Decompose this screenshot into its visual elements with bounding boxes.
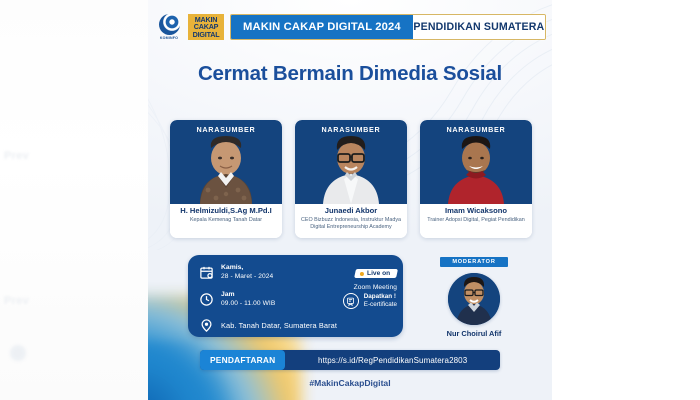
certificate-icon <box>343 293 359 309</box>
moderator-portrait-icon <box>448 273 500 325</box>
live-dot-icon <box>360 272 364 276</box>
speaker-name: Imam Wicaksono <box>423 207 529 216</box>
event-date-text: Kamis, 28 - Maret - 2024 <box>221 264 273 280</box>
background-left-gutter: Prev Prev Prev <box>0 0 148 400</box>
speaker-portrait-icon <box>295 134 407 204</box>
event-time-row: Jam 09.00 - 11.00 WIB <box>198 291 275 308</box>
speaker-title: Kepala Kemenag Tanah Datar <box>173 217 279 224</box>
poster-canvas: KOMINFO MAKIN CAKAP DIGITAL MAKIN CAKAP … <box>148 0 552 400</box>
speaker-meta: Junaedi Akbor CEO Bizbuzz Indonesia, Ins… <box>295 204 407 238</box>
speaker-photo: NARASUMBER <box>420 120 532 204</box>
calendar-icon <box>198 264 215 281</box>
poster-page: Prev Prev Prev <box>0 0 700 400</box>
event-time-text: Jam 09.00 - 11.00 WIB <box>221 291 275 307</box>
registration-url[interactable]: https://s.id/RegPendidikanSumatera2803 <box>285 356 500 365</box>
region-title: PENDIDIKAN SUMATERA <box>413 15 545 39</box>
certificate-label: Dapatkan ! <box>364 293 397 301</box>
poster-header: KOMINFO MAKIN CAKAP DIGITAL MAKIN CAKAP … <box>148 10 552 44</box>
speaker-photo: NARASUMBER <box>295 120 407 204</box>
certificate-value: E-certificate <box>364 301 397 309</box>
campaign-title: MAKIN CAKAP DIGITAL 2024 <box>231 15 413 39</box>
speaker-title: CEO Bizbuzz Indonesia, Instruktur Madya … <box>298 217 404 231</box>
speaker-meta: Imam Wicaksono Trainer Adopsi Digital, P… <box>420 204 532 238</box>
event-info-panel: Kamis, 28 - Maret - 2024 Jam 09.00 - 11.… <box>188 255 403 337</box>
makin-cakap-digital-logo: MAKIN CAKAP DIGITAL <box>188 14 224 40</box>
speaker-card: NARASUMBER Junaedi Akbor <box>295 120 407 238</box>
moderator-name: Nur Choirul Afif <box>416 329 532 338</box>
event-date: 28 - Maret - 2024 <box>221 273 273 281</box>
moderator-block: MODERATOR Nur Choirul Afif <box>416 250 532 338</box>
speakers-row: NARASUMBER <box>170 120 532 240</box>
kominfo-emblem-icon <box>159 14 180 35</box>
speaker-name: Junaedi Akbor <box>298 207 404 216</box>
speaker-portrait-icon <box>420 134 532 204</box>
kominfo-logo: KOMINFO <box>152 12 186 42</box>
event-day: Kamis, <box>221 264 273 272</box>
speaker-card: NARASUMBER Imam Wicaksono Trainer Ad <box>420 120 532 238</box>
event-time-label: Jam <box>221 291 275 299</box>
location-pin-icon <box>198 317 215 334</box>
speaker-title: Trainer Adopsi Digital, Pegiat Pendidika… <box>423 217 529 224</box>
speaker-role-label: NARASUMBER <box>295 125 407 134</box>
speaker-portrait-icon <box>170 134 282 204</box>
campaign-hashtag: #MakinCakapDigital <box>148 378 552 388</box>
logo-line-3: DIGITAL <box>193 31 220 38</box>
speaker-card: NARASUMBER <box>170 120 282 238</box>
live-pill: Live on <box>354 269 398 278</box>
moderator-photo <box>448 273 500 325</box>
registration-label: PENDAFTARAN <box>200 350 285 370</box>
header-title-bar: MAKIN CAKAP DIGITAL 2024 PENDIDIKAN SUMA… <box>230 14 546 40</box>
certificate-text: Dapatkan ! E-certificate <box>364 293 397 309</box>
speaker-role-label: NARASUMBER <box>170 125 282 134</box>
clock-icon <box>198 291 215 308</box>
live-on-badge: Live on Zoom Meeting <box>309 263 397 291</box>
moderator-badge: MODERATOR <box>440 257 507 267</box>
registration-bar[interactable]: PENDAFTARAN https://s.id/RegPendidikanSu… <box>200 350 500 370</box>
event-date-row: Kamis, 28 - Maret - 2024 <box>198 264 273 281</box>
platform-name: Zoom Meeting <box>309 284 397 291</box>
event-location-text: Kab. Tanah Datar, Sumatera Barat <box>221 321 337 330</box>
background-right-gutter <box>552 0 700 400</box>
event-location-row: Kab. Tanah Datar, Sumatera Barat <box>198 317 337 334</box>
speaker-photo: NARASUMBER <box>170 120 282 204</box>
speaker-meta: H. Helmizuldi,S.Ag M.Pd.I Kepala Kemenag… <box>170 204 282 238</box>
event-headline: Cermat Bermain Dimedia Sosial <box>148 62 552 86</box>
live-label: Live on <box>367 271 390 278</box>
speaker-name: H. Helmizuldi,S.Ag M.Pd.I <box>173 207 279 216</box>
certificate-info: Dapatkan ! E-certificate <box>343 293 397 309</box>
event-time-value: 09.00 - 11.00 WIB <box>221 300 275 308</box>
speaker-role-label: NARASUMBER <box>420 125 532 134</box>
kominfo-label: KOMINFO <box>160 36 178 40</box>
